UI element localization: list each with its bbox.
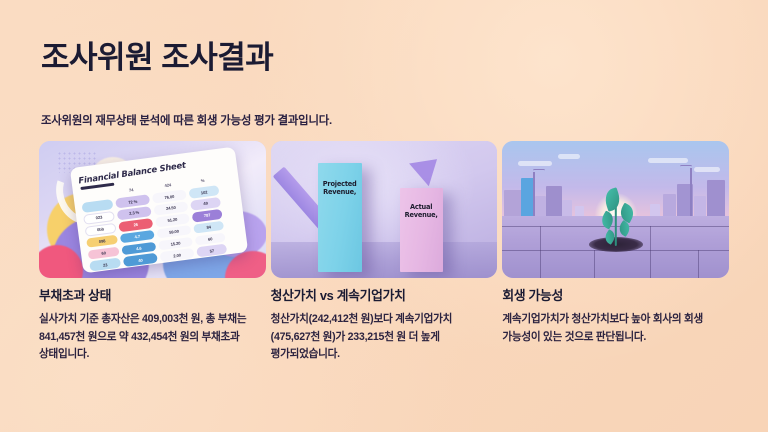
street-lamp	[690, 168, 692, 220]
crack-line	[698, 250, 699, 278]
slide-root: 조사위원 조사결과 조사위원의 재무상태 분석에 따른 회생 가능성 평가 결과…	[0, 0, 768, 432]
balance-sheet-card: Financial Balance Sheet 74 424 % 72 % 76…	[70, 147, 248, 274]
card-heading: 부채초과 상태	[39, 288, 266, 303]
card-thumbnail-bar-chart: Projected Revenue, Actual Revenue,	[271, 141, 498, 278]
crack-line	[650, 226, 651, 278]
street-lamp	[533, 172, 535, 220]
cloud	[694, 167, 720, 172]
page-title: 조사위원 조사결과	[41, 40, 273, 76]
card-thumbnail-balance-sheet: Financial Balance Sheet 74 424 % 72 % 76…	[39, 141, 266, 278]
page-subtitle: 조사위원의 재무상태 분석에 따른 회생 가능성 평가 결과입니다.	[41, 112, 332, 128]
card-body-text: 청산가치(242,412천 원)보다 계속기업가치(475,627천 원)가 2…	[271, 311, 497, 362]
bar-projected-revenue: Projected Revenue,	[318, 163, 362, 272]
sheet-cell: 098	[86, 234, 118, 248]
card-heading: 회생 가능성	[502, 288, 729, 303]
card-recovery-possibility: 회생 가능성 계속기업가치가 청산가치보다 높아 회사의 회생 가능성이 있는 …	[502, 141, 729, 363]
sheet-cell: 84	[193, 220, 224, 233]
crack-line	[540, 226, 541, 278]
card-body-text: 실사가치 기준 총자산은 409,003천 원, 총 부채는 841,457천 …	[39, 311, 263, 362]
bar-actual-revenue: Actual Revenue,	[400, 188, 443, 272]
card-liquidation-vs-going-concern: Projected Revenue, Actual Revenue, 청산가치 …	[271, 141, 498, 363]
card-body-text: 계속기업가치가 청산가치보다 높아 회사의 회생 가능성이 있는 것으로 판단됩…	[502, 311, 728, 345]
cloud	[648, 158, 688, 163]
card-heading: 청산가치 vs 계속기업가치	[271, 288, 498, 303]
building	[546, 186, 562, 220]
lamp-head	[680, 165, 692, 168]
cloud	[518, 161, 552, 166]
sheet-cell: 787	[192, 209, 223, 222]
lamp-head	[533, 169, 545, 172]
cloud	[558, 154, 580, 159]
card-debt-excess: Financial Balance Sheet 74 424 % 72 % 76…	[39, 141, 266, 363]
building	[707, 180, 725, 220]
card-thumbnail-sprout	[502, 141, 729, 278]
bar-label-actual: Actual Revenue,	[400, 203, 443, 219]
bar-label-projected: Projected Revenue,	[318, 180, 362, 196]
cards-row: Financial Balance Sheet 74 424 % 72 % 76…	[39, 141, 729, 363]
crack-line	[594, 250, 595, 278]
